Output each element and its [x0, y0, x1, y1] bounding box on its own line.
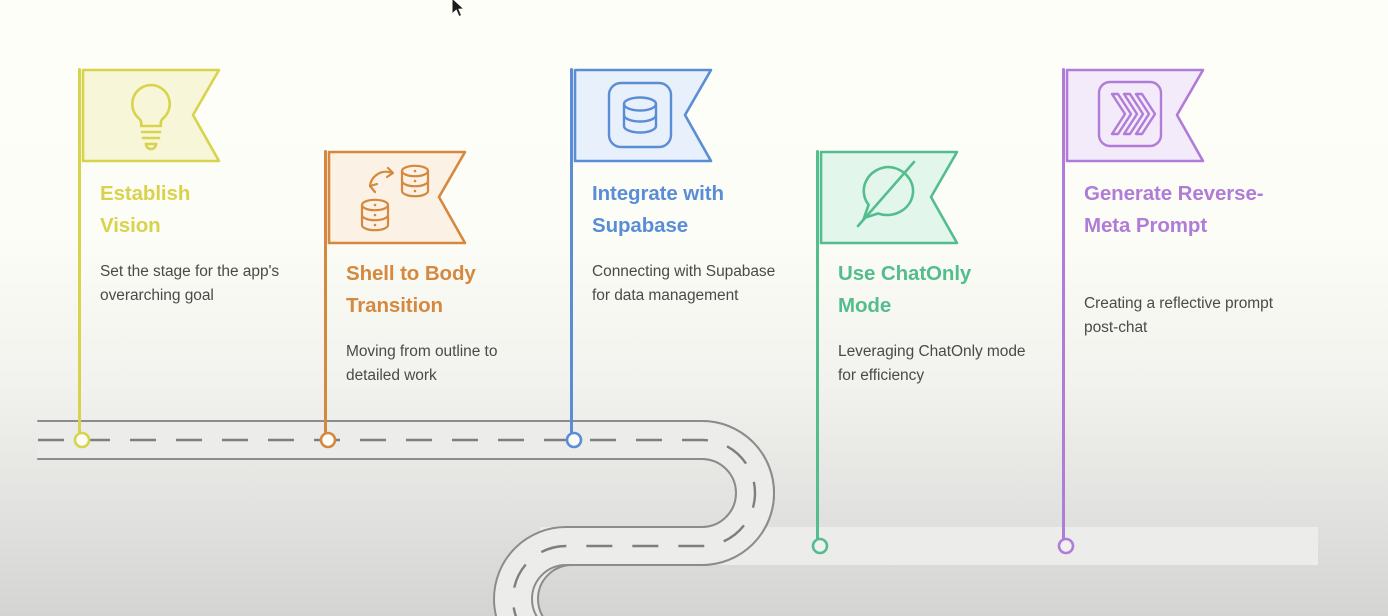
milestone-title: Use ChatOnly Mode: [838, 258, 1018, 323]
milestone-description: Leveraging ChatOnly mode for efficiency: [838, 340, 1034, 387]
milestone-description: Connecting with Supabase for data manage…: [592, 260, 782, 307]
milestone-description: Moving from outline to detailed work: [346, 340, 542, 387]
milestone-description: Set the stage for the app's overarching …: [100, 260, 296, 307]
edge-top-lower: [48, 459, 736, 527]
flag-banner: [819, 150, 959, 245]
milestone-description: Creating a reflective prompt post-chat: [1084, 292, 1280, 339]
flag-banner: [327, 150, 467, 245]
road-render: [38, 421, 1318, 616]
milestone-title: Generate Reverse-Meta Prompt: [1084, 178, 1270, 243]
flag-shape: [83, 70, 219, 161]
milestone-title: Integrate with Supabase: [592, 178, 772, 243]
flag-banner: [573, 68, 713, 163]
flag-banner: [81, 68, 221, 163]
flag-banner: [1065, 68, 1205, 163]
milestone-title: Shell to Body Transition: [346, 258, 526, 323]
milestone-title: Establish Vision: [100, 178, 250, 243]
roadmap-timeline-canvas: Establish Vision Set the stage for the a…: [0, 0, 1388, 616]
flag-shape: [821, 152, 957, 243]
flag-shape: [329, 152, 465, 243]
